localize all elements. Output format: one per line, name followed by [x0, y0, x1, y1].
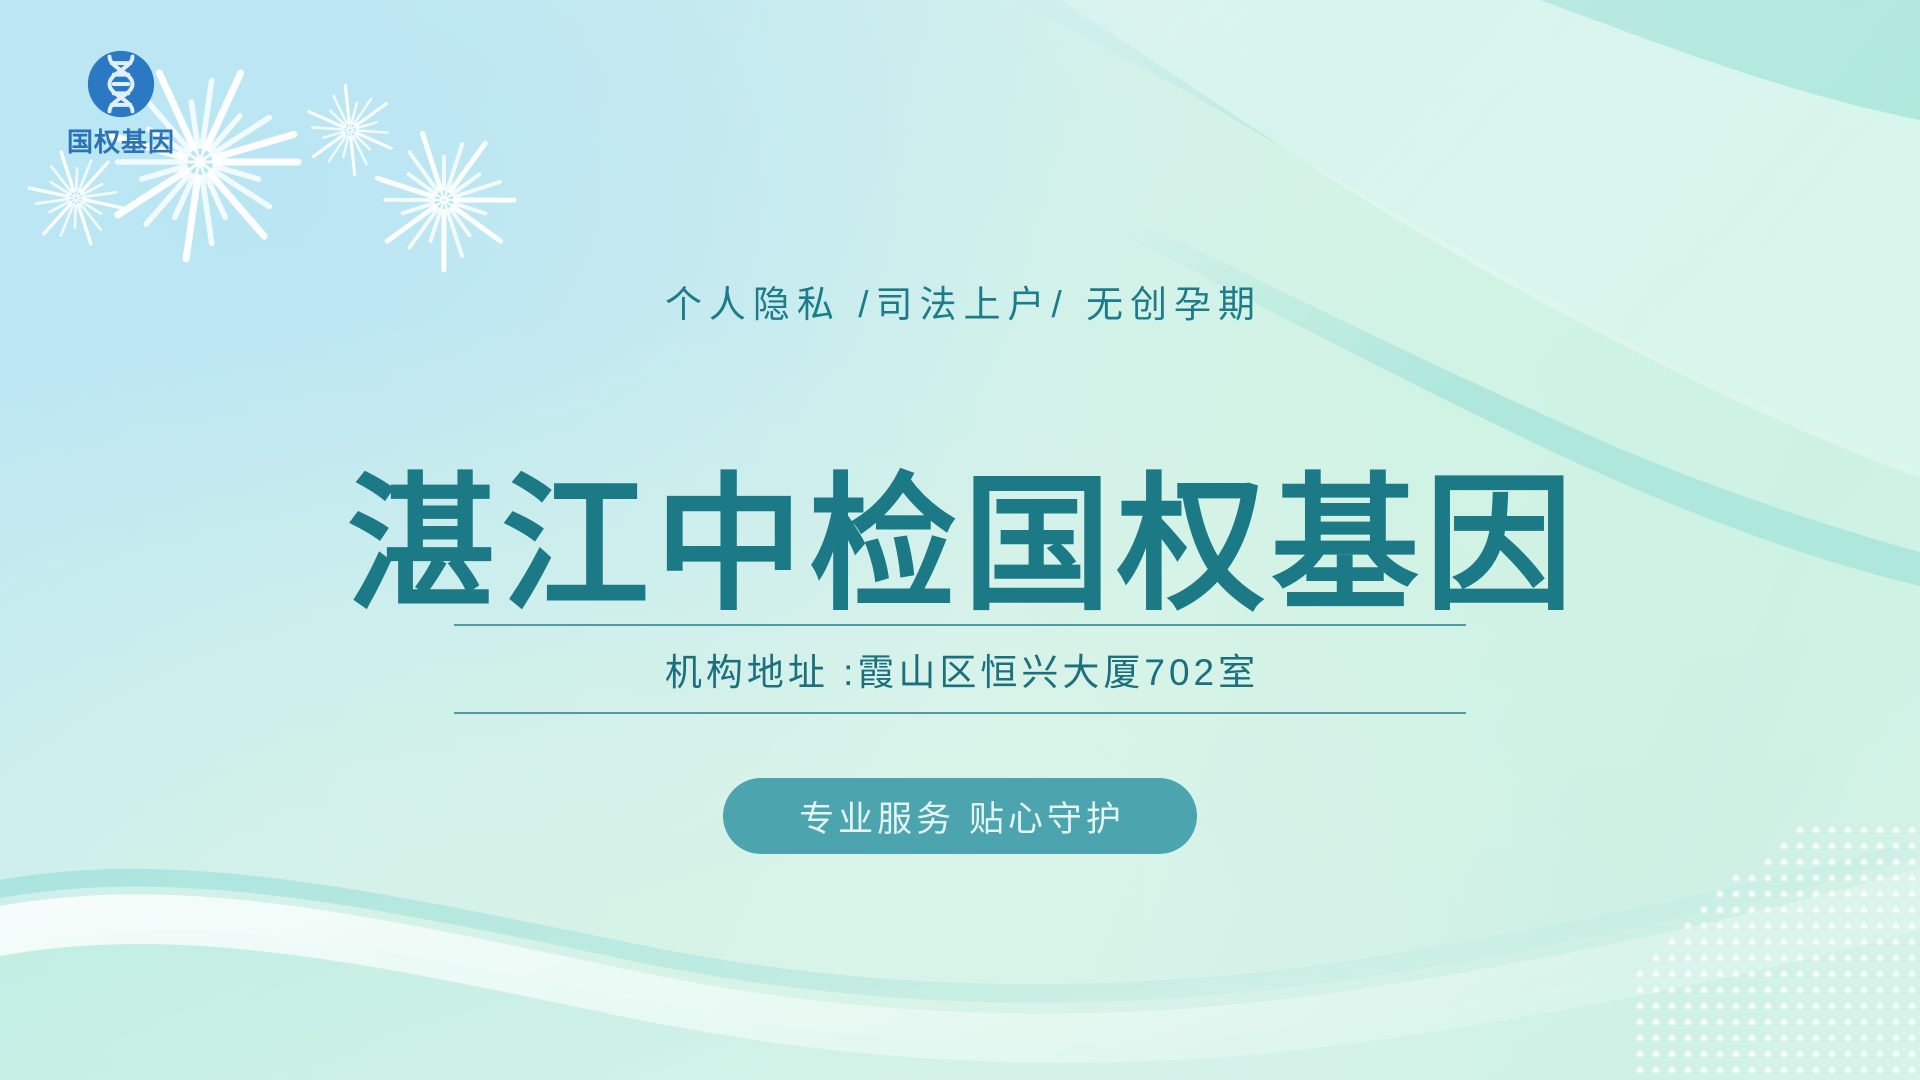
- hero-content: 个人隐私 /司法上户/ 无创孕期 湛江中检国权基因 机构地址 :霞山区恒兴大厦7…: [0, 0, 1920, 1080]
- address-block: 机构地址 :霞山区恒兴大厦702室: [454, 624, 1466, 714]
- address-text: 机构地址 :霞山区恒兴大厦702室: [454, 642, 1466, 696]
- cta-button[interactable]: 专业服务 贴心守护: [723, 778, 1197, 854]
- promo-banner: 国权基因 个人隐私 /司法上户/ 无创孕期 湛江中检国权基因 机构地址 :霞山区…: [0, 0, 1920, 1080]
- service-tagline: 个人隐私 /司法上户/ 无创孕期: [658, 274, 1262, 328]
- page-title: 湛江中检国权基因: [341, 472, 1579, 620]
